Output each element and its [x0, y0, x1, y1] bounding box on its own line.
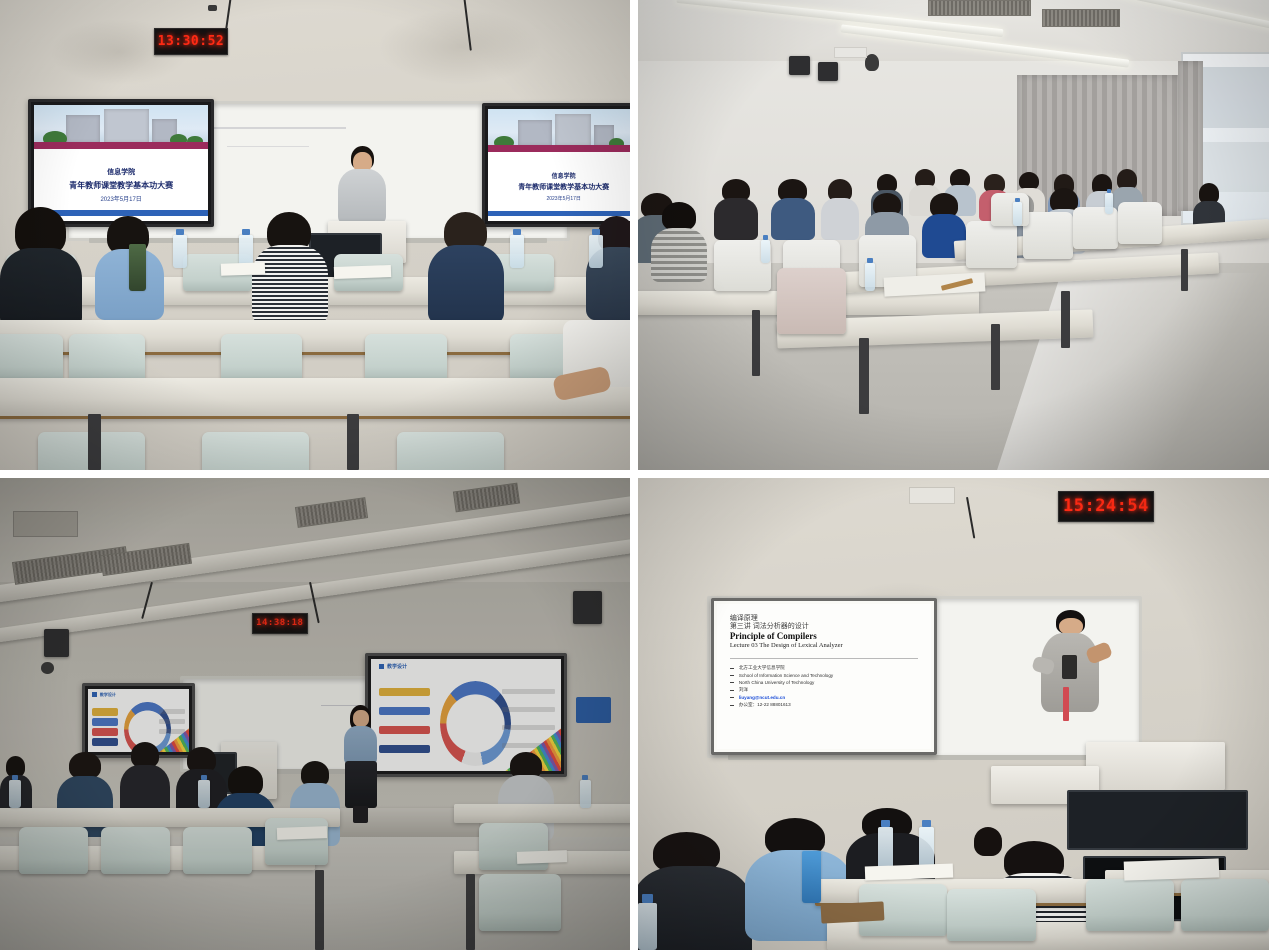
chair: [265, 818, 328, 865]
slide-caption: [159, 729, 185, 734]
audience-member: [771, 179, 815, 240]
wall-plate: [834, 47, 868, 58]
digital-clock-display: 14:38:18: [252, 613, 308, 635]
ceiling-camera-icon: [865, 54, 879, 71]
desk-leg: [315, 870, 324, 950]
audience-member: [554, 320, 630, 433]
desk-leg: [991, 324, 1000, 390]
papers: [1124, 859, 1219, 881]
lanyard: [1063, 687, 1069, 721]
water-bottle: [198, 780, 209, 808]
wall-speaker-icon: [789, 56, 809, 75]
slide-caption: [159, 709, 185, 714]
chair: [221, 334, 303, 381]
chair: [397, 432, 504, 470]
wall-plate: [909, 487, 955, 503]
chair: [777, 268, 846, 334]
chair: [202, 432, 309, 470]
slide-tag: [379, 688, 430, 696]
classroom-scene-audience: [638, 0, 1269, 470]
water-bottle: [878, 827, 893, 869]
podium: [1086, 742, 1225, 789]
projection-screen[interactable]: 编译原理 第三讲 词法分析器的设计 Principle of Compilers…: [711, 598, 938, 755]
electrical-box: [13, 511, 78, 537]
marker-tray: [728, 755, 1123, 760]
chair: [1181, 879, 1269, 931]
wall-speaker-icon: [44, 629, 69, 657]
slide-compilers: 编译原理 第三讲 词法分析器的设计 Principle of Compilers…: [717, 604, 932, 749]
chair: [0, 334, 63, 381]
classroom-scene-opening: 13:30:52: [0, 0, 630, 470]
chair: [1118, 202, 1162, 244]
papers: [220, 262, 264, 275]
slide-tag: [92, 738, 118, 746]
chair: [479, 874, 561, 931]
desk-leg: [1061, 291, 1070, 347]
notebook: [821, 901, 885, 923]
projection-screen-right[interactable]: 信息学院 青年教师课堂教学基本功大赛 2023年5月17日: [482, 103, 630, 227]
ceiling-camera-icon: [41, 662, 54, 674]
water-bottle: [9, 780, 20, 808]
digital-clock-display: 15:24:54: [1058, 491, 1155, 522]
audience-member: [651, 202, 708, 282]
thermos: [129, 244, 145, 291]
panel-bottom-right[interactable]: 15:24:54 编译原理 第三讲 词法分析器的设计 Principle of …: [635, 475, 1269, 950]
ceiling-camera-icon: [208, 5, 217, 11]
wall-smudge: [378, 9, 542, 84]
slide-email-link[interactable]: liuyang@ncut.edu.cn: [730, 695, 918, 700]
slide-tag: [379, 707, 430, 715]
audience-member: [966, 827, 1010, 874]
slide-caption: [502, 725, 555, 730]
slide-tag: [379, 745, 430, 753]
chair: [1023, 212, 1073, 259]
chair: [947, 889, 1035, 941]
whiteboard-writing: [227, 146, 309, 147]
audience-member: [714, 179, 758, 240]
wall-sign: [576, 697, 611, 723]
shirt-print: [1062, 655, 1077, 679]
slide-caption: [159, 719, 185, 724]
water-bottle: [510, 235, 524, 268]
water-bottle: [1013, 202, 1021, 226]
slide-tag: [92, 718, 118, 726]
slide-competition-title: 信息学院 青年教师课堂教学基本功大赛 2023年5月17日: [34, 105, 208, 221]
wall-speaker-icon: [818, 62, 838, 81]
water-bottle: [802, 851, 821, 903]
water-bottle: [580, 780, 591, 808]
chair: [991, 193, 1029, 226]
panel-top-left[interactable]: 13:30:52: [0, 0, 635, 475]
slide-campus-photo: [34, 105, 208, 149]
slide-caption: [502, 689, 555, 694]
chair: [19, 827, 88, 874]
slide-campus-photo: [488, 109, 630, 151]
digital-clock-display: 13:30:52: [154, 28, 228, 55]
chair: [1086, 879, 1174, 931]
whiteboard-writing: [214, 127, 346, 129]
presenter-figure: [343, 705, 378, 823]
slide-caption: [502, 707, 555, 712]
presenter-figure: [1036, 610, 1105, 742]
papers: [277, 826, 328, 840]
audience-member: [821, 179, 859, 240]
panel-bottom-left[interactable]: 14:38:18 教学设计: [0, 475, 635, 950]
water-bottle: [589, 235, 603, 268]
slide-competition-title: 信息学院 青年教师课堂教学基本功大赛 2023年5月17日: [488, 109, 630, 221]
papers: [334, 265, 391, 279]
desk-row: [0, 378, 630, 419]
chair: [365, 334, 447, 381]
audience-member: [0, 207, 82, 329]
water-bottle: [1105, 193, 1113, 214]
water-bottle: [173, 235, 187, 268]
water-bottle: [761, 240, 770, 264]
desk-leg: [752, 310, 761, 376]
water-bottle: [638, 903, 657, 950]
chair: [101, 827, 170, 874]
desk-row: [454, 804, 630, 823]
desk-leg: [1181, 249, 1189, 291]
slide-tag: [379, 726, 430, 734]
podium-monitor: [1067, 790, 1248, 851]
ceiling-vent: [928, 0, 1031, 16]
slide-tag: [92, 728, 118, 736]
classroom-scene-compilers: 15:24:54 编译原理 第三讲 词法分析器的设计 Principle of …: [638, 478, 1269, 950]
water-bottle: [865, 263, 875, 291]
papers: [516, 850, 567, 864]
chair: [966, 221, 1016, 268]
desk-leg: [859, 338, 869, 413]
desk-leg: [347, 414, 360, 470]
classroom-scene-lecture-female: 14:38:18 教学设计: [0, 478, 630, 950]
audience-member: [428, 212, 504, 325]
desk-leg: [466, 874, 475, 950]
chair: [69, 334, 145, 381]
slide-bullet-list: 北方工业大学信息学院 School of Information Science…: [730, 665, 918, 708]
wall-speaker-icon: [573, 591, 601, 624]
desk-leg: [88, 414, 101, 470]
panel-top-right[interactable]: [635, 0, 1269, 475]
ceiling-vent: [1042, 9, 1120, 27]
chair: [183, 827, 252, 874]
slide-tag: [92, 708, 118, 716]
photo-collage: 13:30:52: [0, 0, 1269, 950]
